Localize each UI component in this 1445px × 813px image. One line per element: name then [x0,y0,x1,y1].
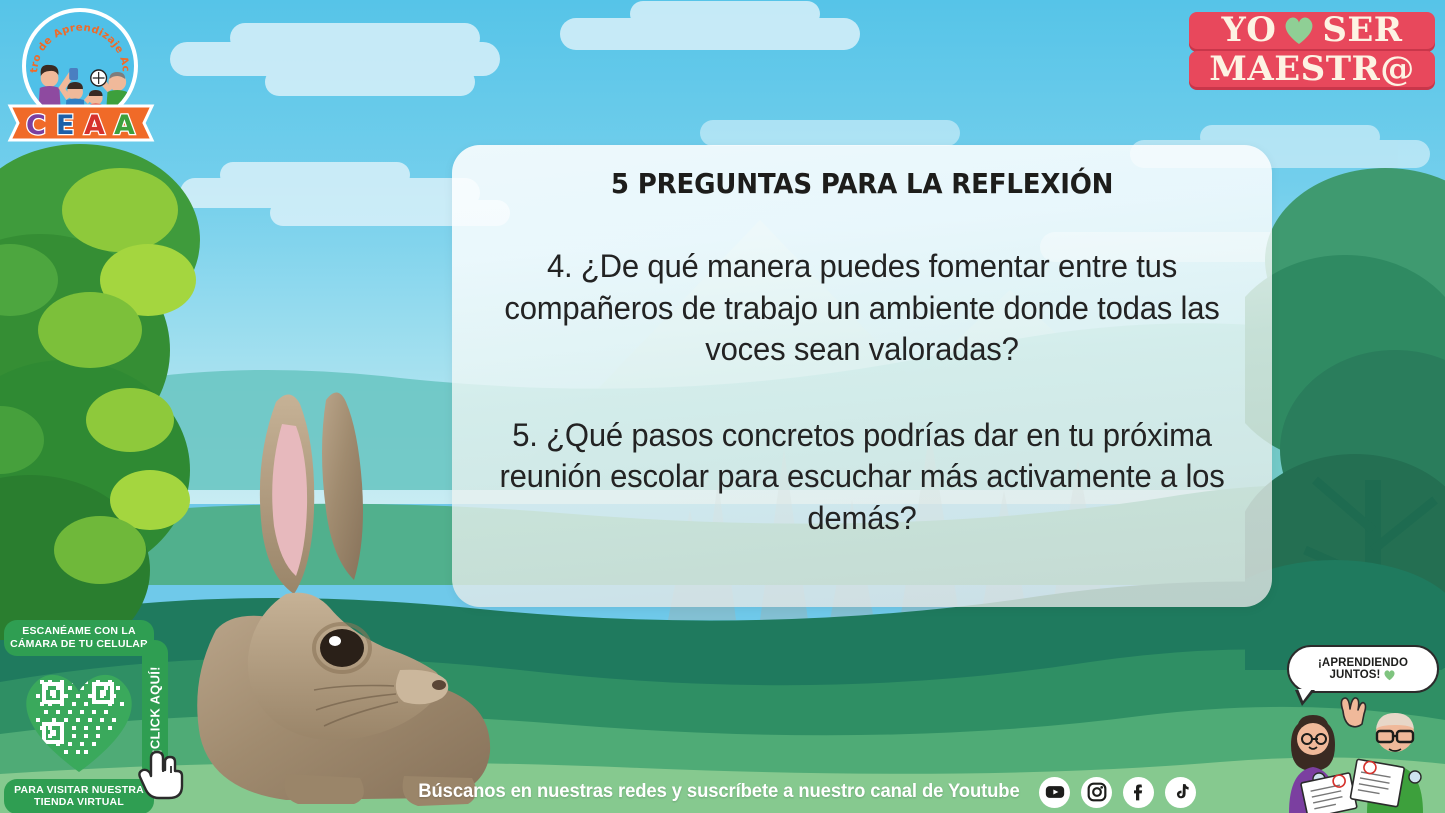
ceaa-letter-e: E [56,110,74,141]
tree-foliage-right-icon [1245,150,1445,670]
heart-qr-icon[interactable] [14,660,144,776]
yo-amo-ser-maestro-logo: YO SER MAESTR@ [1189,12,1435,104]
maestro-yo-label: YO [1221,13,1276,48]
question-4: 4. ¿De qué manera puedes fomentar entre … [499,246,1225,371]
maestro-ser-label: SER [1322,13,1402,48]
reflection-card: 5 PREGUNTAS PARA LA REFLEXIÓN 4. ¿De qué… [452,145,1272,607]
maestro-line-2: MAESTR@ [1189,51,1435,88]
maestro-maestro-label: MAESTR@ [1209,52,1415,87]
teachers-illustration: ¡APRENDIENDO JUNTOS! [1269,645,1445,813]
cloud-icon [700,120,960,146]
ceaa-letter-a1: A [84,110,105,141]
svg-text:Centro de Aprendizaje Activo: Centro de Aprendizaje Activo [26,12,132,73]
question-5: 5. ¿Qué pasos concretos podrías dar en t… [499,415,1225,540]
ceaa-logo: Centro de Aprendizaje Activo C E A A [6,4,156,144]
facebook-icon[interactable] [1123,777,1154,808]
youtube-icon[interactable] [1039,777,1070,808]
cloud-icon [560,18,860,50]
heart-icon [1383,669,1396,681]
ceaa-letter-a2: A [114,110,135,141]
tiktok-icon[interactable] [1165,777,1196,808]
click-aqui-label: ¡CLICK AQUÍ! [148,666,163,754]
ceaa-ribbon: C E A A [6,100,156,146]
slide-canvas: 5 PREGUNTAS PARA LA REFLEXIÓN 4. ¿De qué… [0,0,1445,813]
bubble-line-2-text: JUNTOS! [1330,669,1381,681]
rabbit-illustration-icon [190,380,510,813]
ceaa-letter-c: C [26,110,46,141]
bubble-line-2: JUNTOS! [1330,669,1397,681]
qr-top-label: ESCANÉAME CON LA CÁMARA DE TU CELULAR [4,620,154,656]
heart-icon [1282,14,1316,46]
bubble-line-1: ¡APRENDIENDO [1318,657,1408,669]
maestro-line-1: YO SER [1189,12,1435,49]
cloud-icon [170,42,500,76]
social-banner: Búscanos en nuestras redes y suscríbete … [0,771,1445,813]
page-title: 5 PREGUNTAS PARA LA REFLEXIÓN [611,167,1113,200]
instagram-icon[interactable] [1081,777,1112,808]
ceaa-arc-label: Centro de Aprendizaje Activo [26,12,132,73]
social-banner-text: Búscanos en nuestras redes y suscríbete … [418,781,1019,803]
speech-bubble: ¡APRENDIENDO JUNTOS! [1287,645,1439,693]
speech-bubble-tail [1295,690,1315,706]
